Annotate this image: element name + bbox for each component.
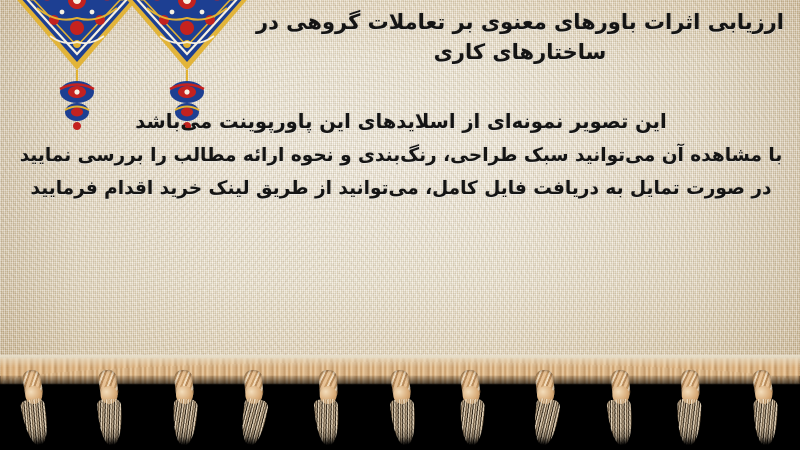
slide-body-line-1: این تصویر نمونه‌ای از اسلایدهای این پاور… (12, 112, 790, 132)
fringe-tassel (15, 367, 53, 449)
fringe-tassel (670, 367, 708, 449)
fringe-tassel (744, 367, 782, 449)
fringe-tassel (308, 367, 346, 449)
fringe-tassel (602, 368, 638, 449)
fringe-tassel (91, 368, 127, 449)
slide-body-line-3: در صورت تمایل به دریافت فایل کامل، می‌تو… (12, 180, 790, 199)
slide-body-text: این تصویر نمونه‌ای از اسلایدهای این پاور… (12, 112, 790, 214)
slide-text-area: ارزیابی اثرات باورهای معنوی بر تعاملات گ… (0, 0, 800, 379)
fringe-tassel (167, 368, 201, 448)
tassel-skirt (606, 398, 635, 446)
tassel-skirt (20, 397, 52, 447)
tassel-skirt (460, 399, 485, 445)
fringe-tassel (383, 367, 421, 449)
tassel-skirt (532, 398, 562, 447)
fringe-tassel (453, 368, 489, 449)
tassel-skirt (753, 399, 778, 445)
slide-body-line-2: با مشاهده آن می‌توانید سبک طراحی، رنگ‌بن… (12, 147, 790, 166)
tassel-skirt (172, 398, 198, 445)
slide-title-line-2: ساختارهای کاری (250, 38, 790, 68)
tassel-skirt (314, 398, 341, 446)
fringe-tassel (234, 368, 270, 449)
slide-canvas: ارزیابی اثرات باورهای معنوی بر تعاملات گ… (0, 0, 800, 450)
tassel-skirt (97, 398, 124, 446)
tassel-skirt (238, 397, 269, 446)
fringe-tassel (528, 368, 562, 448)
tassel-skirt (390, 398, 418, 446)
slide-title-line-1: ارزیابی اثرات باورهای معنوی بر تعاملات گ… (250, 8, 790, 38)
slide-title: ارزیابی اثرات باورهای معنوی بر تعاملات گ… (250, 8, 790, 68)
tassel-skirt (677, 399, 702, 445)
knotted-tassel-fringe (0, 368, 800, 450)
